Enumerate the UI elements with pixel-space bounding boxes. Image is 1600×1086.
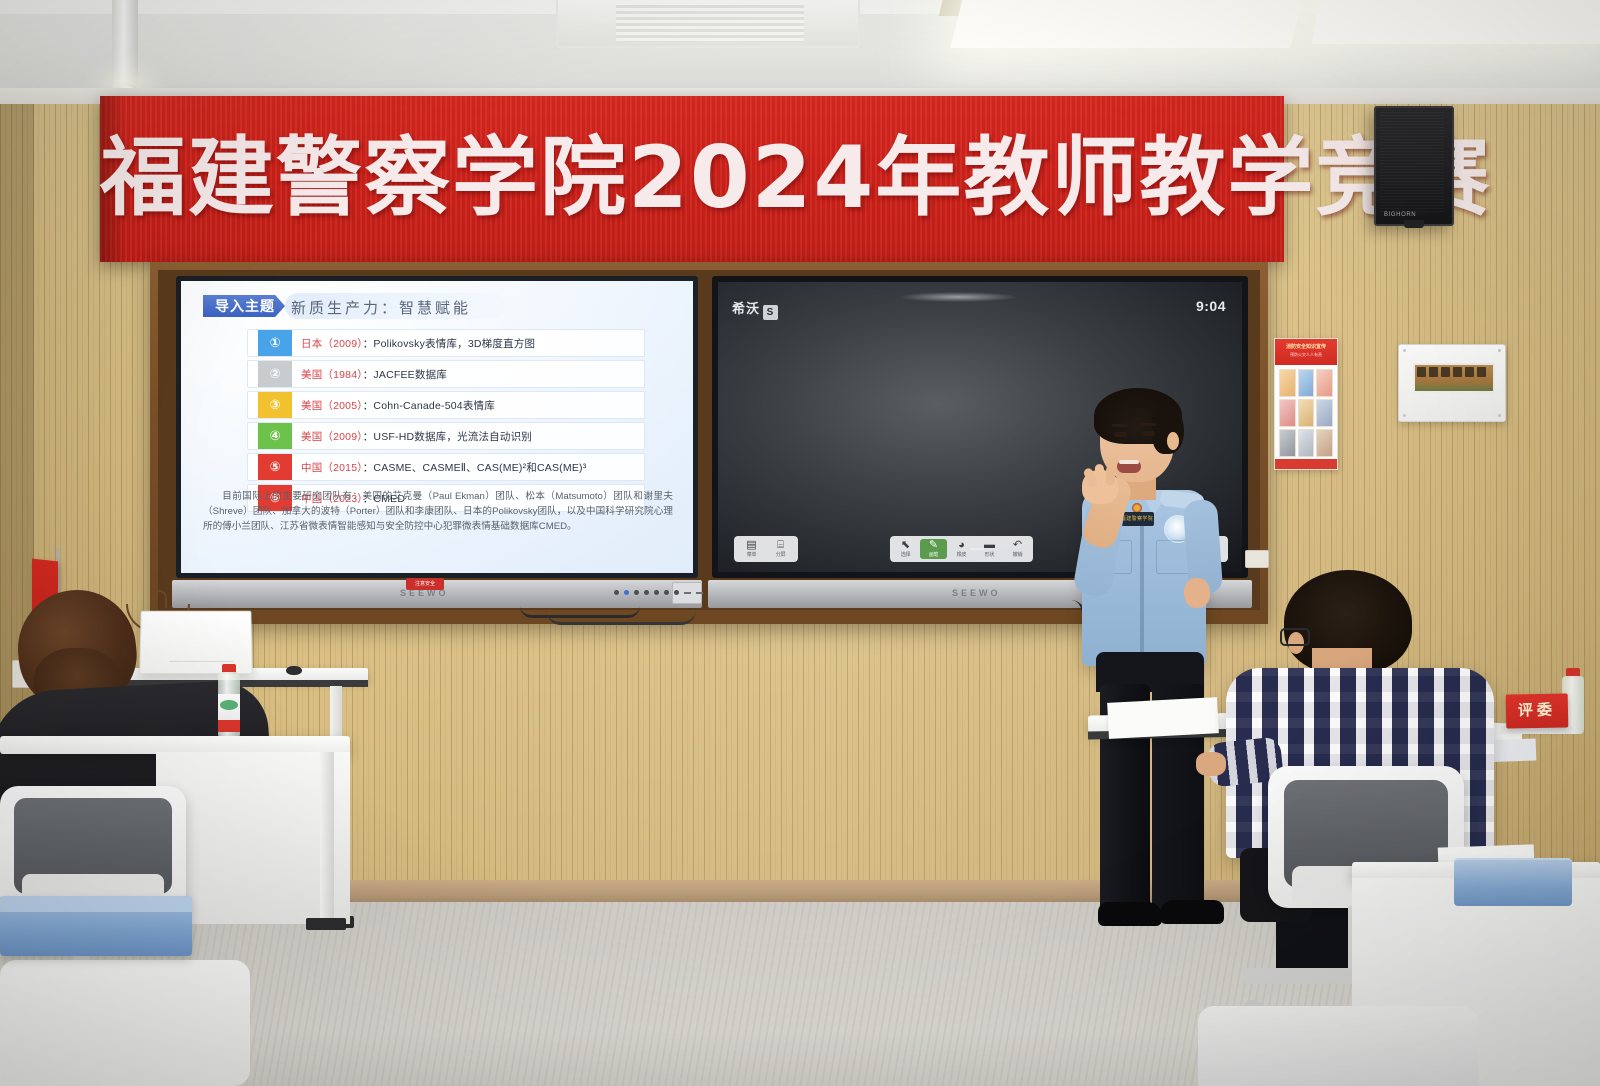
poster-cell [1316,429,1333,457]
seewo-logo: 希沃S [732,298,778,320]
row-text: 美国（2009）：USF-HD数据库，光流法自动识别 [292,429,532,444]
bezel-slot [684,592,691,594]
wall-speaker: BIGHORN [1374,106,1454,226]
cable [546,610,696,625]
presenter-teeth [1119,460,1139,464]
screen-clock: 9:04 [1196,298,1226,314]
row-detail: ：USF-HD数据库，光流法自动识别 [363,431,532,443]
presenter-eye-right [1142,431,1155,436]
presenter-eyebrow-left [1112,424,1128,427]
bezel-dot[interactable] [664,590,669,595]
list-item: ② 美国（1984）：JACFEE数据库 [247,360,645,388]
poster-cell [1298,399,1315,427]
poster-footer [1275,459,1337,469]
presenter-badge-text: 福建警察学院 [1120,512,1154,526]
row-number-chip: ④ [258,423,292,449]
undo-tool-button[interactable]: ↶ 撤销 [1004,539,1031,559]
warning-sticker: 注意安全 [406,578,444,590]
shape-icon: ▬ [984,540,995,551]
splitscreen-label: 分屏 [776,552,786,558]
breaker-switch [1477,367,1486,377]
row-detail: ：Cohn-Canade-504表情库 [363,400,495,412]
panel-screw [1403,349,1406,352]
toolbar-main-group[interactable]: ⬉ 选择 ✎ 画笔 ◕ 橡皮 ▬ 形状 ↶ 撤销 [890,536,1033,562]
desk-foot [306,918,346,930]
list-item: ① 日本（2009）：Polikovsky表情库，3D梯度直方图 [247,329,645,357]
downlight-fixture [112,0,138,96]
slide-section-tag: 导入主题 [203,295,285,317]
row-country: 美国（2005） [301,400,363,412]
eraser-label: 橡皮 [957,552,967,558]
menu-icon-button[interactable]: ▤ 菜单 [738,539,765,559]
row-spacer [248,392,258,418]
toolbar-left-group[interactable]: ▤ 菜单 ⌸ 分屏 [734,536,798,562]
row-detail: ：Polikovsky表情库，3D梯度直方图 [363,338,535,350]
bezel-slot [696,592,703,594]
presenter-shoe-left [1098,902,1162,926]
blue-storage-box[interactable] [1454,860,1572,906]
safety-poster: 消防安全知识宣传 预防火灾人人有责 [1274,338,1338,470]
poster-cell [1279,429,1296,457]
judge-placard: 评委 [1506,693,1569,728]
panel-screw [1498,414,1501,417]
presenter-eyebrow-right [1140,423,1156,426]
bezel-dot[interactable] [634,590,639,595]
cable [1022,600,1085,614]
select-label: 选择 [901,552,911,558]
bezel-dot[interactable] [674,590,679,595]
presenter-shirt-placket [1140,512,1144,662]
row-spacer [248,423,258,449]
ceiling-light-panel-1 [950,0,1309,48]
presenter-finger [1106,465,1116,485]
panel-screw [1403,414,1406,417]
score-sheet[interactable] [1107,697,1219,739]
breaker-switch-row [1417,367,1486,377]
splitscreen-icon: ⌸ [777,540,784,551]
mouse[interactable] [286,666,302,675]
presenter-ear [1167,432,1179,450]
menu-label: 菜单 [747,552,757,558]
undo-label: 撤销 [1013,552,1023,558]
row-number-chip: ② [258,361,292,387]
poster-subtitle: 预防火灾人人有责 [1275,352,1337,358]
presentation-slide[interactable]: 导入主题 新质生产力：智慧赋能 ① 日本（2009）：Polikovsky表情库… [181,281,693,573]
shape-label: 形状 [985,552,995,558]
seewo-logo-mark: S [763,305,778,320]
event-banner: 福建警察学院2024年教师教学竞赛 [100,96,1284,262]
presenter-shoe-right [1160,900,1224,924]
slide-paragraph: 目前国际上的主要研究团队有：美国的艾克曼（Paul Ekman）团队、松本（Ma… [203,489,673,534]
bezel-brand-right: SEEWO [952,588,1001,598]
bottle-label-band [218,720,240,732]
breaker-switch [1453,367,1462,377]
breaker-switch [1441,367,1450,377]
row-text: 日本（2009）：Polikovsky表情库，3D梯度直方图 [292,336,535,351]
select-tool-button[interactable]: ⬉ 选择 [892,539,919,559]
slide-row-list: ① 日本（2009）：Polikovsky表情库，3D梯度直方图 ② 美国（19… [247,329,645,515]
eraser-icon: ◕ [958,540,965,551]
poster-cell [1279,369,1296,397]
bezel-power-dot[interactable] [624,590,629,595]
speaker-mesh [1380,112,1444,212]
poster-cell [1316,369,1333,397]
presenter-hand-left [1184,578,1210,608]
row-number-chip: ③ [258,392,292,418]
panel-screw [1498,349,1501,352]
seewo-logo-text: 希沃 [732,301,760,316]
row-text: 美国（1984）：JACFEE数据库 [292,367,447,382]
speaker-brand-label: BIGHORN [1384,212,1416,218]
bottle-label-graphic [220,700,238,710]
row-country: 日本（2009） [301,338,363,350]
slide-subtitle: 新质生产力：智慧赋能 [291,297,471,318]
laptop-hinge-line [169,661,233,662]
blue-storage-box-lid [0,896,192,912]
cursor-icon: ⬉ [901,540,910,551]
bezel-dot[interactable] [614,590,619,595]
banner-title: 福建警察学院2024年教师教学竞赛 [100,122,1284,234]
row-detail: ：CASME、CASMEⅡ、CAS(ME)²和CAS(ME)³ [363,462,587,474]
bezel-dot[interactable] [654,590,659,595]
row-text: 美国（2005）：Cohn-Canade-504表情库 [292,398,495,413]
menu-icon: ▤ [746,540,756,551]
poster-header: 消防安全知识宣传 预防火灾人人有责 [1275,339,1337,365]
poster-cell [1316,399,1333,427]
warning-sticker-text: 注意安全 [406,578,444,590]
breaker-switch [1465,367,1474,377]
foreground-chair[interactable] [0,960,250,1086]
foreground-chair[interactable] [1198,1006,1478,1086]
wall-outlet [1245,550,1269,568]
row-country: 美国（2009） [301,431,363,443]
row-spacer [248,454,258,480]
pen-icon: ✎ [929,540,938,551]
poster-cell [1279,399,1296,427]
poster-cell [1298,429,1315,457]
row-spacer [248,330,258,356]
splitscreen-icon-button[interactable]: ⌸ 分屏 [767,539,794,559]
ceiling-light-panel-2 [1311,0,1600,44]
list-item: ③ 美国（2005）：Cohn-Canade-504表情库 [247,391,645,419]
eraser-tool-button[interactable]: ◕ 橡皮 [948,539,975,559]
breaker-switch [1429,367,1438,377]
row-country: 中国（2015） [301,462,363,474]
speaker-bracket [1404,220,1424,228]
pen-tool-button[interactable]: ✎ 画笔 [920,539,947,559]
undo-icon: ↶ [1013,540,1022,551]
shape-tool-button[interactable]: ▬ 形状 [976,539,1003,559]
presenter-name-badge: 福建警察学院 [1120,512,1154,526]
list-item: ⑤ 中国（2015）：CASME、CASMEⅡ、CAS(ME)²和CAS(ME)… [247,453,645,481]
desk-leg [320,752,334,928]
presenter-eye-left [1114,432,1127,437]
row-detail: ：JACFEE数据库 [363,369,447,381]
row-number-chip: ① [258,330,292,356]
poster-illustration-grid [1279,369,1333,457]
bezel-dot[interactable] [644,590,649,595]
poster-title: 消防安全知识宣传 [1275,339,1337,352]
bezel-button-row[interactable] [614,590,703,595]
screen-glare [898,292,1018,302]
pen-label: 画笔 [929,552,939,558]
row-text: 中国（2015）：CASME、CASMEⅡ、CAS(ME)²和CAS(ME)³ [292,460,586,475]
judge-placard-text: 评委 [1506,693,1569,728]
list-item: ④ 美国（2009）：USF-HD数据库，光流法自动识别 [247,422,645,450]
electrical-panel-box [1398,344,1506,422]
row-number-chip: ⑤ [258,454,292,480]
poster-cell [1298,369,1315,397]
row-country: 美国（1984） [301,369,363,381]
row-spacer [248,361,258,387]
vent-grill [616,2,804,42]
breaker-switch [1417,367,1426,377]
classroom-photo-scene: 福建警察学院2024年教师教学竞赛 导入主题 新质生产力：智慧赋能 ① 日本（2… [0,0,1600,1086]
right-audience-hand [1196,752,1226,776]
right-audience-glasses [1280,628,1310,646]
